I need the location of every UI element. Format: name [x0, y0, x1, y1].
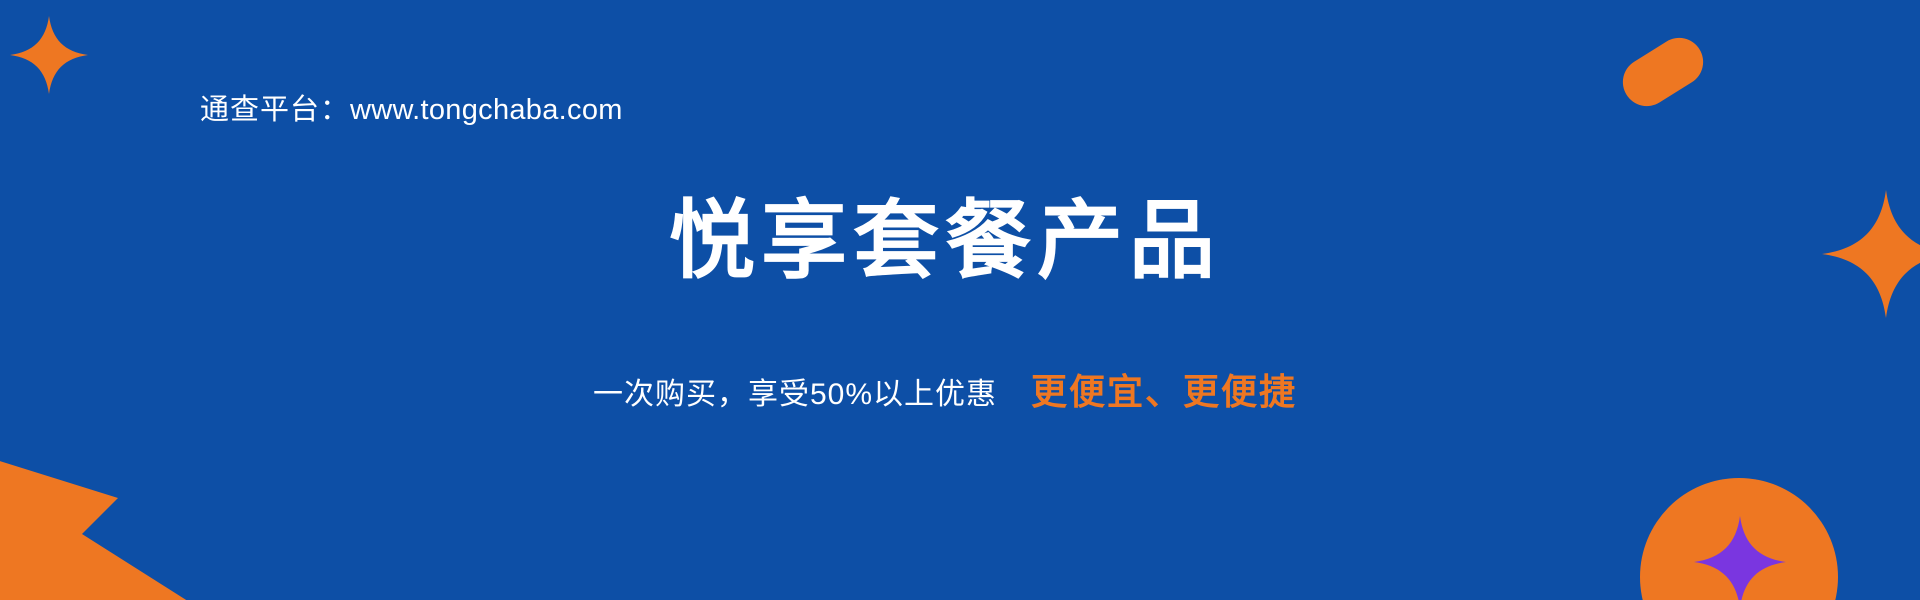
- banner-content: 通查平台：www.tongchaba.com 悦享套餐产品 一次购买，享受50%…: [0, 0, 1920, 600]
- promo-banner: 通查平台：www.tongchaba.com 悦享套餐产品 一次购买，享受50%…: [0, 0, 1920, 600]
- subtitle-line: 一次购买，享受50%以上优惠更便宜、更便捷: [0, 363, 1920, 415]
- page-title: 悦享套餐产品: [0, 198, 1920, 284]
- platform-url: www.tongchaba.com: [350, 94, 623, 126]
- subtitle-orange-text: 更便宜、更便捷: [1031, 371, 1297, 412]
- platform-url-line: 通查平台：www.tongchaba.com: [200, 86, 623, 128]
- subtitle-white-text: 一次购买，享受50%以上优惠: [593, 378, 997, 411]
- platform-label: 通查平台：: [200, 94, 350, 126]
